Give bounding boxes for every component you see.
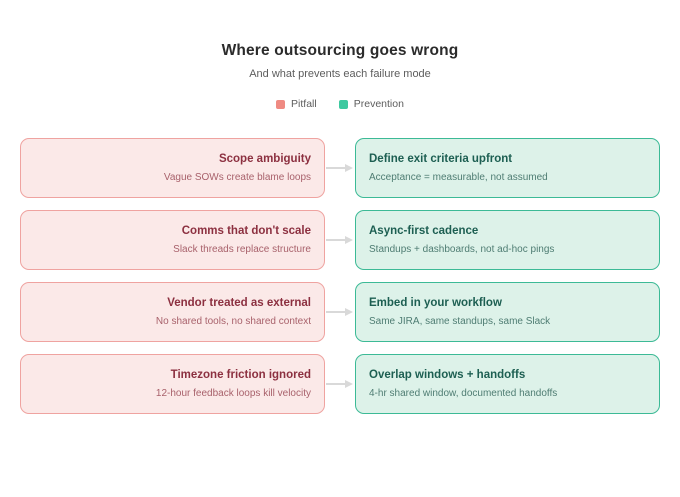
page-title: Where outsourcing goes wrong [0, 41, 680, 61]
pitfall-subtitle: Slack threads replace structure [173, 243, 311, 256]
arrow-right-icon [325, 282, 355, 342]
pair-row: Scope ambiguity Vague SOWs create blame … [0, 138, 680, 198]
pair-row: Comms that don't scale Slack threads rep… [0, 210, 680, 270]
prevention-card: Embed in your workflow Same JIRA, same s… [355, 282, 660, 342]
prevention-card: Overlap windows + handoffs 4-hr shared w… [355, 354, 660, 414]
page-subtitle: And what prevents each failure mode [0, 67, 680, 82]
square-swatch-icon [276, 100, 285, 109]
legend-label-prevention: Prevention [354, 98, 404, 110]
prevention-subtitle: Acceptance = measurable, not assumed [369, 171, 548, 184]
prevention-subtitle: 4-hr shared window, documented handoffs [369, 387, 557, 400]
diagram-header: Where outsourcing goes wrong And what pr… [0, 0, 680, 110]
prevention-title: Overlap windows + handoffs [369, 368, 525, 383]
prevention-card: Define exit criteria upfront Acceptance … [355, 138, 660, 198]
square-swatch-icon [339, 100, 348, 109]
pitfall-card: Comms that don't scale Slack threads rep… [20, 210, 325, 270]
pitfall-title: Comms that don't scale [182, 224, 311, 239]
prevention-title: Async-first cadence [369, 224, 478, 239]
prevention-title: Embed in your workflow [369, 296, 502, 311]
pitfall-card: Scope ambiguity Vague SOWs create blame … [20, 138, 325, 198]
pitfall-title: Vendor treated as external [167, 296, 311, 311]
pitfall-title: Timezone friction ignored [171, 368, 311, 383]
arrow-right-icon [325, 354, 355, 414]
pitfall-card: Timezone friction ignored 12-hour feedba… [20, 354, 325, 414]
prevention-title: Define exit criteria upfront [369, 152, 512, 167]
prevention-card: Async-first cadence Standups + dashboard… [355, 210, 660, 270]
diagram-canvas: Where outsourcing goes wrong And what pr… [0, 0, 680, 497]
arrow-right-icon [325, 138, 355, 198]
legend: Pitfall Prevention [0, 98, 680, 110]
pitfall-subtitle: No shared tools, no shared context [156, 315, 311, 328]
pairs-list: Scope ambiguity Vague SOWs create blame … [0, 138, 680, 426]
legend-item-pitfall: Pitfall [276, 98, 317, 110]
prevention-subtitle: Same JIRA, same standups, same Slack [369, 315, 550, 328]
pair-row: Timezone friction ignored 12-hour feedba… [0, 354, 680, 414]
legend-label-pitfall: Pitfall [291, 98, 317, 110]
legend-item-prevention: Prevention [339, 98, 404, 110]
pair-row: Vendor treated as external No shared too… [0, 282, 680, 342]
pitfall-card: Vendor treated as external No shared too… [20, 282, 325, 342]
pitfall-subtitle: Vague SOWs create blame loops [164, 171, 311, 184]
pitfall-title: Scope ambiguity [219, 152, 311, 167]
arrow-right-icon [325, 210, 355, 270]
prevention-subtitle: Standups + dashboards, not ad-hoc pings [369, 243, 554, 256]
pitfall-subtitle: 12-hour feedback loops kill velocity [156, 387, 311, 400]
